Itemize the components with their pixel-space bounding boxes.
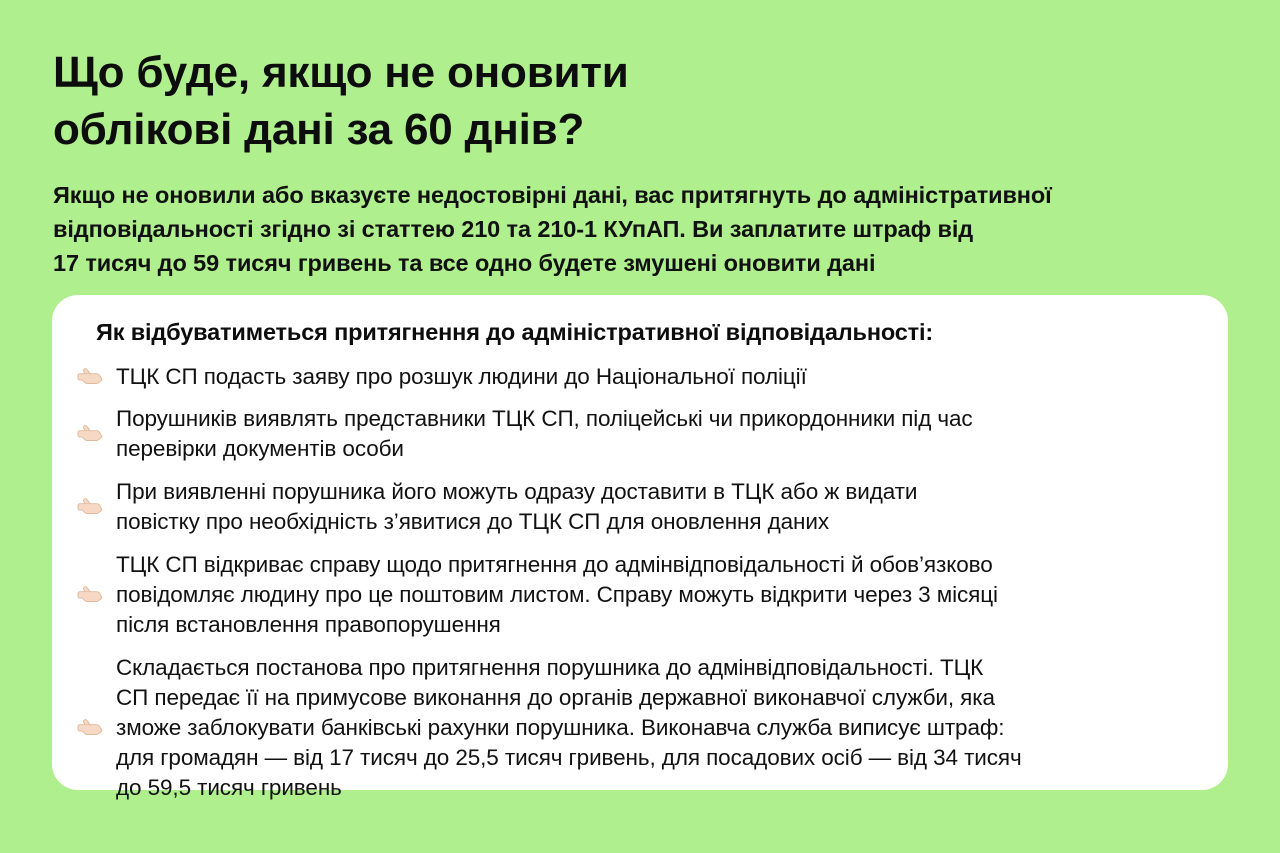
list-item: При виявленні порушника його можуть одра… — [74, 477, 1198, 537]
list-item: ТЦК СП відкриває справу щодо притягнення… — [74, 550, 1198, 640]
list-item-text: При виявленні порушника його можуть одра… — [116, 477, 1198, 537]
pointing-hand-right-icon — [74, 494, 116, 520]
list-item-text: ТЦК СП відкриває справу щодо притягнення… — [116, 550, 1198, 640]
page-title: Що буде, якщо не оновити облікові дані з… — [53, 44, 1053, 158]
lead-paragraph: Якщо не оновили або вказуєте недостовірн… — [53, 178, 1233, 280]
pointing-hand-right-icon — [74, 421, 116, 447]
steps-card: Як відбуватиметься притягнення до адміні… — [52, 295, 1228, 790]
pointing-hand-right-icon — [74, 715, 116, 741]
pointing-hand-right-icon — [74, 364, 116, 390]
pointing-hand-right-icon — [74, 582, 116, 608]
list-item-text: Складається постанова про притягнення по… — [116, 653, 1198, 803]
list-item: Порушників виявлять представники ТЦК СП,… — [74, 404, 1198, 464]
steps-list: ТЦК СП подасть заяву про розшук людини д… — [74, 362, 1198, 803]
list-item-text: ТЦК СП подасть заяву про розшук людини д… — [116, 362, 1198, 392]
list-item: ТЦК СП подасть заяву про розшук людини д… — [74, 362, 1198, 392]
poster-root: Що буде, якщо не оновити облікові дані з… — [0, 0, 1280, 853]
card-heading: Як відбуватиметься притягнення до адміні… — [96, 317, 1198, 348]
list-item: Складається постанова про притягнення по… — [74, 653, 1198, 803]
list-item-text: Порушників виявлять представники ТЦК СП,… — [116, 404, 1198, 464]
